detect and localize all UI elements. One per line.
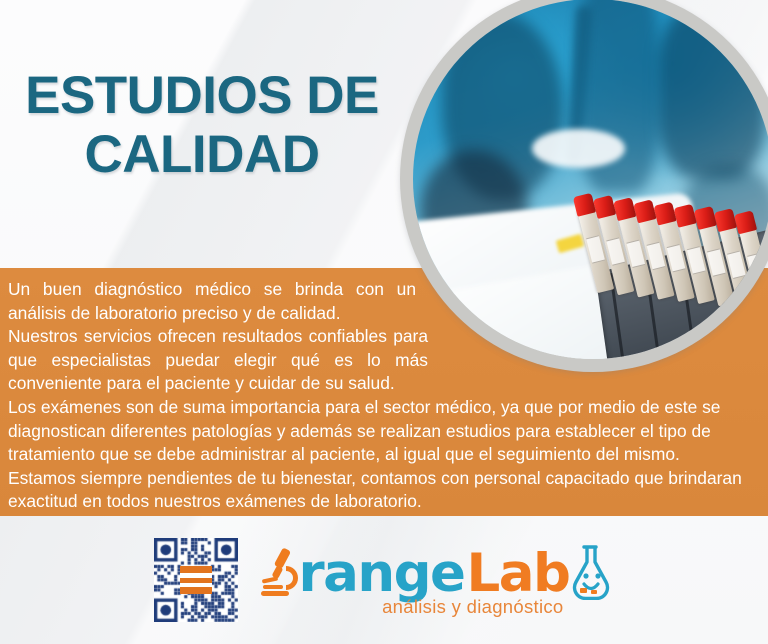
test-tube-label bbox=[586, 235, 605, 263]
body-paragraph-3: Los exámenes son de suma importancia par… bbox=[8, 396, 760, 467]
test-tube-label bbox=[606, 237, 625, 265]
test-tube-cap bbox=[613, 197, 636, 221]
test-tube-label bbox=[647, 242, 666, 270]
poster-canvas: ESTUDIOS DE CALIDAD Un buen diagnóstico … bbox=[0, 0, 768, 644]
footer: range Lab bbox=[0, 516, 768, 644]
photo-equipment-dish bbox=[532, 129, 626, 169]
test-tube-cap bbox=[694, 206, 717, 230]
headline-line-2: CALIDAD bbox=[0, 125, 404, 184]
smiling-flask-icon bbox=[568, 542, 614, 600]
qr-center-bar bbox=[180, 587, 212, 594]
body-copy: Un buen diagnóstico médico se brinda con… bbox=[0, 268, 768, 516]
qr-center-bar bbox=[180, 566, 212, 573]
test-tube-cap bbox=[633, 199, 656, 223]
body-paragraph-2: Nuestros servicios ofrecen resultados co… bbox=[8, 325, 428, 396]
body-paragraph-1: Un buen diagnóstico médico se brinda con… bbox=[8, 278, 416, 325]
headline-line-1: ESTUDIOS DE bbox=[0, 66, 404, 125]
logo-wordmark: range Lab bbox=[260, 542, 613, 600]
logo-text-lab: Lab bbox=[467, 547, 570, 600]
logo-tagline: análisis y diagnóstico bbox=[260, 596, 613, 618]
logo-text-range: range bbox=[298, 547, 464, 600]
test-tube-cap bbox=[593, 195, 616, 219]
photo-bg-shape bbox=[658, 6, 766, 179]
test-tube-cap bbox=[734, 210, 757, 234]
qr-center-logo bbox=[180, 566, 212, 594]
body-paragraph-4: Estamos siempre pendientes de tu bienest… bbox=[8, 467, 760, 514]
test-tube-cap bbox=[573, 193, 596, 217]
headline-block: ESTUDIOS DE CALIDAD bbox=[0, 66, 404, 185]
test-tube-cap bbox=[714, 208, 737, 232]
test-tube-cap bbox=[673, 204, 696, 228]
qr-center-bar bbox=[180, 578, 212, 583]
test-tube-label bbox=[626, 240, 645, 268]
test-tube-cap bbox=[653, 202, 676, 226]
qr-code[interactable] bbox=[154, 538, 238, 622]
orangelab-logo[interactable]: range Lab bbox=[260, 542, 613, 618]
